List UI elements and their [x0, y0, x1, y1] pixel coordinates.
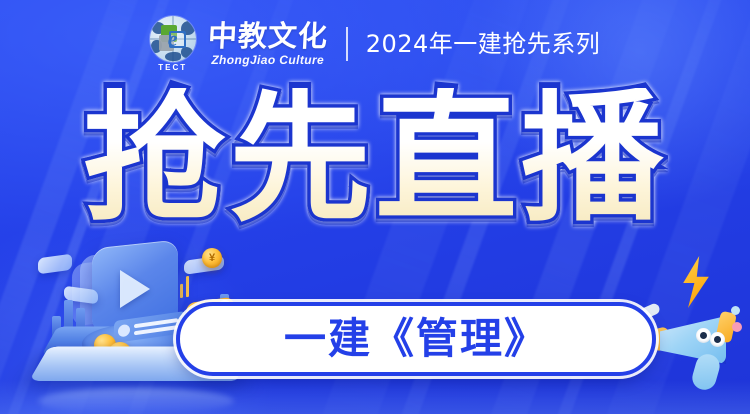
megaphone-eye [696, 328, 711, 343]
series-label: 2024年一建抢先系列 [366, 32, 601, 56]
promo-banner: e TECT 中教文化 ZhongJiao Culture 2024年一建抢先系… [0, 0, 750, 414]
lightning-bolt-icon [676, 256, 716, 308]
header-divider [346, 27, 348, 61]
subtitle-pill-wrap: 一建《管理》 [176, 302, 656, 376]
brand-logo: e TECT [150, 16, 196, 72]
globe-logo-icon: e [150, 16, 196, 62]
subtitle-pill: 一建《管理》 [176, 302, 656, 376]
coin-icon [202, 248, 222, 268]
subtitle-text: 一建《管理》 [284, 318, 548, 360]
banner-header: e TECT 中教文化 ZhongJiao Culture 2024年一建抢先系… [0, 16, 750, 72]
brand-name-en: ZhongJiao Culture [211, 53, 324, 67]
megaphone-eye [710, 332, 725, 347]
logo-letter-e: e [168, 28, 178, 50]
logo-abbrev: TECT [158, 63, 187, 72]
brand-name-block: 中教文化 ZhongJiao Culture [208, 22, 328, 67]
play-triangle-icon [120, 270, 150, 308]
headline-text: 抢先直播 [83, 88, 667, 230]
headline-block: 抢先直播 抢先直播 [0, 88, 750, 230]
brand-name-cn: 中教文化 [207, 22, 329, 51]
